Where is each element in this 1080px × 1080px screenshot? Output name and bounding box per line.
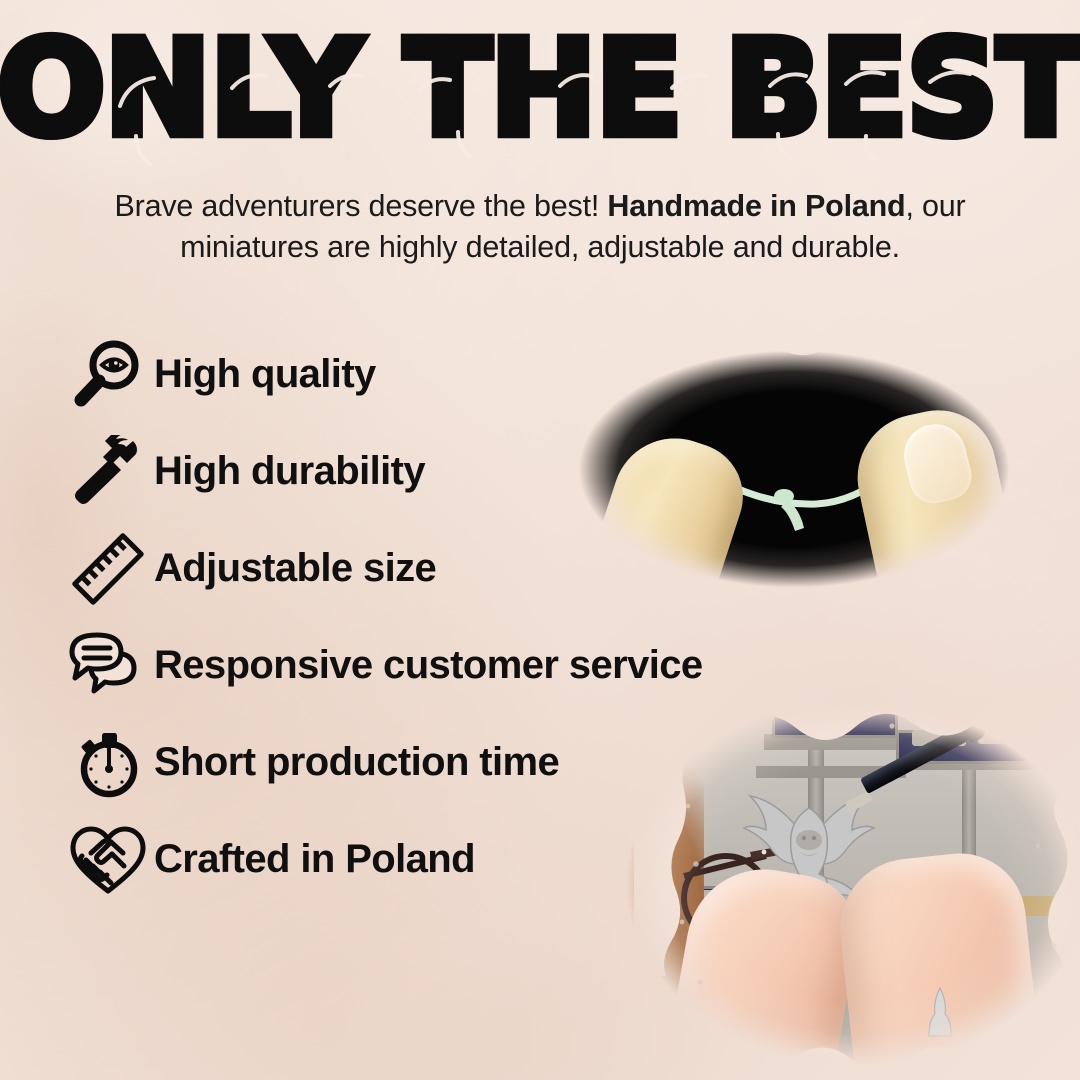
feature-label: High quality [154,352,376,397]
flexible-miniature-photo [534,316,1054,622]
magnifier-eye-icon [62,335,154,415]
speech-bubbles-icon [62,626,154,706]
stopwatch-icon [62,723,154,803]
handshake-heart-icon [62,820,154,900]
tray-contents [824,706,858,720]
feature-label: Crafted in Poland [154,837,475,882]
hand-right [833,847,1044,1080]
subtitle: Brave adventurers deserve the best! Hand… [90,186,990,267]
feature-label: Short production time [154,740,559,785]
small-miniature [926,986,954,1042]
hammer-icon [62,432,154,512]
subtitle-lead: Brave adventurers deserve the best! [114,189,607,223]
feature-label: Adjustable size [154,546,436,591]
workshop-painting-photo [596,700,1080,1080]
poster-canvas: ONLY THE BEST Brave adventurers deserve … [0,0,1080,1080]
page-title-text: ONLY THE BEST [0,24,1080,156]
ruler-icon [62,529,154,609]
feature-label: High durability [154,449,425,494]
page-title: ONLY THE BEST [0,36,1080,144]
tray-contents [784,708,812,720]
subtitle-highlight: Handmade in Poland [607,189,905,223]
feature-label: Responsive customer service [154,643,703,688]
